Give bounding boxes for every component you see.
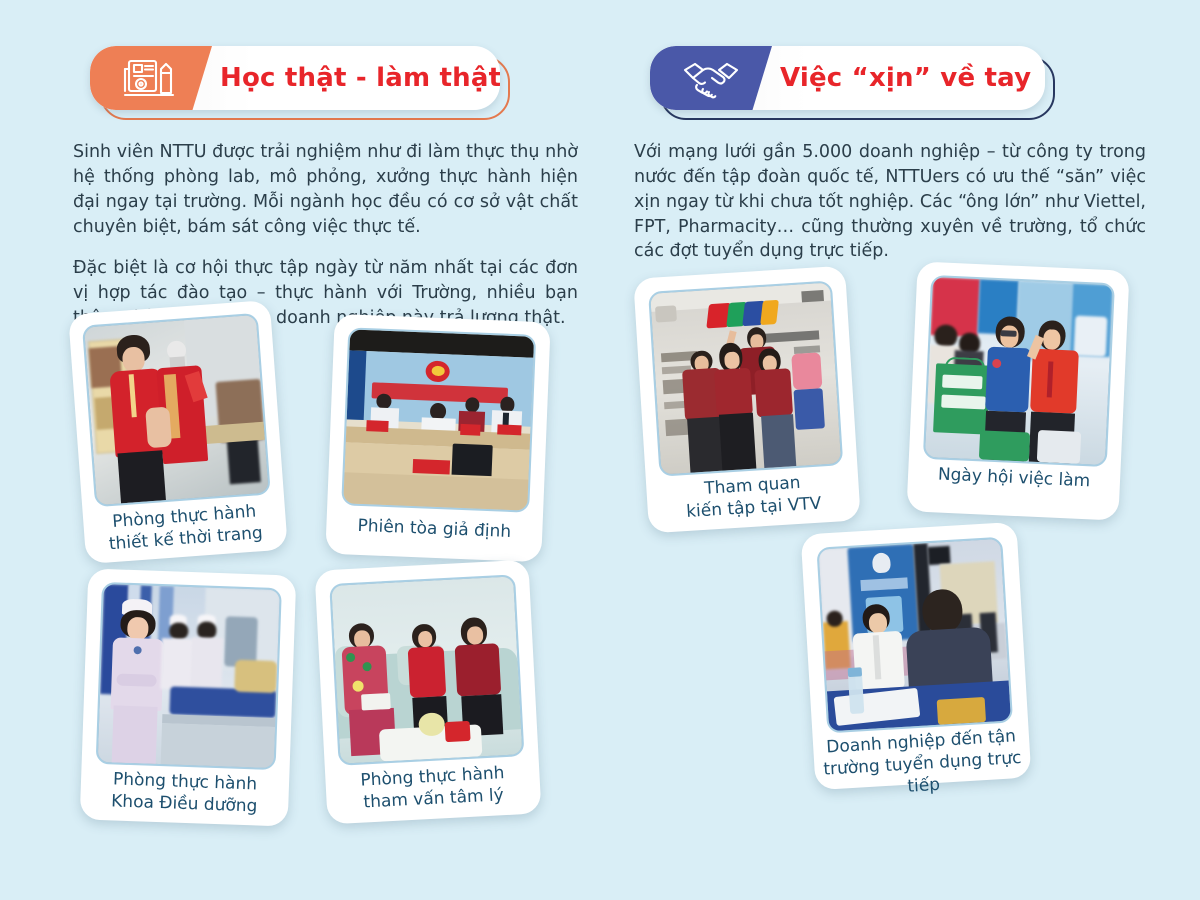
photo-vtv-visit <box>648 280 843 476</box>
photo-caption: Tham quan kiến tập tại VTV <box>646 469 860 526</box>
photo-nursing-lab <box>96 582 282 770</box>
photo-card-job-fair[interactable]: Ngày hội việc làm <box>906 261 1129 520</box>
header-plate: Việc “xịn” về tay <box>650 46 1045 110</box>
photo-card-mock-trial[interactable]: Phiên tòa giả định <box>325 314 550 562</box>
section-header-hoc-that: Học thật - làm thật <box>90 46 500 110</box>
poster-page: Học thật - làm thật Việc “xịn” về tay Si… <box>0 0 1200 900</box>
photo-job-fair <box>923 275 1115 467</box>
photo-caption: Ngày hội việc làm <box>908 463 1121 494</box>
photo-caption: Phòng thực hành Khoa Điều dưỡng <box>80 768 289 819</box>
handshake-icon <box>650 46 772 110</box>
photo-caption: Phòng thực hành thiết kế thời trang <box>83 499 288 557</box>
photo-counselling-lab <box>329 574 524 765</box>
header-plate: Học thật - làm thật <box>90 46 500 110</box>
section-header-viec-xin: Việc “xịn” về tay <box>650 46 1045 110</box>
photo-caption: Phiên tòa giả định <box>326 515 543 545</box>
photo-card-nursing-lab[interactable]: Phòng thực hành Khoa Điều dưỡng <box>80 568 297 826</box>
photo-card-vtv-visit[interactable]: Tham quan kiến tập tại VTV <box>633 266 861 534</box>
section-title: Việc “xịn” về tay <box>780 46 1031 110</box>
photo-card-recruiting[interactable]: Doanh nghiệp đến tận trường tuyển dụng t… <box>801 522 1032 790</box>
body-text-viec-xin: Với mạng lưới gần 5.000 doanh nghiệp – t… <box>634 140 1146 281</box>
paragraph: Sinh viên NTTU được trải nghiệm như đi l… <box>73 140 578 239</box>
paragraph: Với mạng lưới gần 5.000 doanh nghiệp – t… <box>634 140 1146 264</box>
photo-mock-trial <box>341 327 536 512</box>
photo-card-counselling-lab[interactable]: Phòng thực hành tham vấn tâm lý <box>314 560 541 825</box>
section-title: Học thật - làm thật <box>220 46 500 110</box>
factory-gear-icon <box>90 46 212 110</box>
photo-caption: Phòng thực hành tham vấn tâm lý <box>325 761 541 816</box>
photo-recruiting <box>816 537 1013 734</box>
photo-caption: Doanh nghiệp đến tận trường tuyển dụng t… <box>813 725 1032 803</box>
photo-fashion-lab <box>82 313 271 507</box>
photo-card-fashion-lab[interactable]: Phòng thực hành thiết kế thời trang <box>68 300 288 564</box>
